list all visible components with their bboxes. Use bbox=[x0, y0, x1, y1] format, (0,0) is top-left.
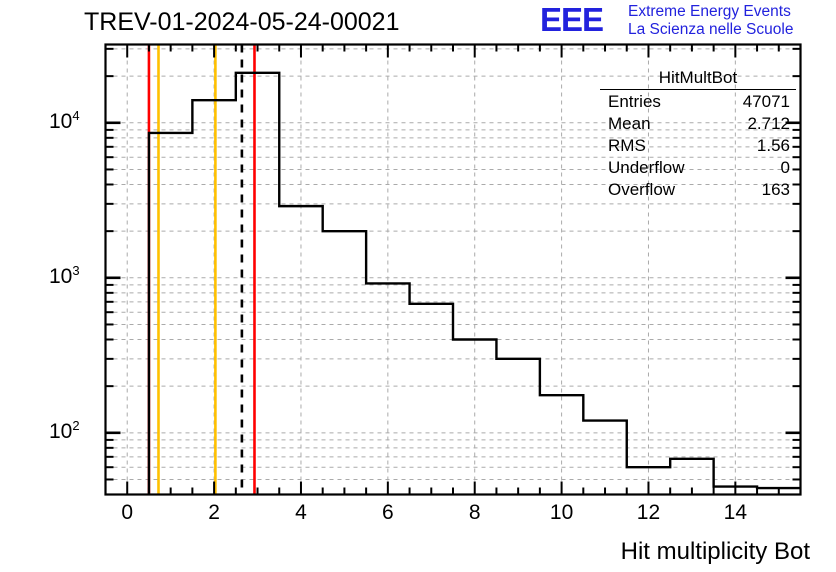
stats-row-label: Entries bbox=[608, 91, 661, 113]
stats-row-value: 47071 bbox=[743, 91, 790, 113]
stats-title: HitMultBot bbox=[600, 68, 796, 90]
stats-row-value: 163 bbox=[762, 179, 790, 201]
stats-row: Entries47071 bbox=[600, 91, 796, 113]
x-tick-label: 10 bbox=[550, 501, 574, 525]
x-tick-label: 0 bbox=[115, 501, 139, 525]
stats-row-label: Underflow bbox=[608, 157, 685, 179]
y-tick-label: 103 bbox=[49, 263, 80, 289]
stats-row: RMS1.56 bbox=[600, 135, 796, 157]
reference-vlines bbox=[149, 45, 255, 495]
x-axis-title: Hit multiplicity Bot bbox=[621, 538, 810, 566]
stats-row-label: Mean bbox=[608, 113, 651, 135]
stats-row: Underflow0 bbox=[600, 157, 796, 179]
x-tick-label: 2 bbox=[202, 501, 226, 525]
stats-row: Mean2.712 bbox=[600, 113, 796, 135]
stats-box: HitMultBot Entries47071Mean2.712RMS1.56U… bbox=[600, 68, 796, 201]
stats-row-value: 2.712 bbox=[747, 113, 790, 135]
stats-row-value: 1.56 bbox=[757, 135, 790, 157]
y-tick-label: 104 bbox=[49, 108, 80, 134]
stats-row-value: 0 bbox=[781, 157, 790, 179]
x-tick-label: 8 bbox=[463, 501, 487, 525]
x-tick-label: 14 bbox=[723, 501, 747, 525]
x-tick-label: 12 bbox=[636, 501, 660, 525]
y-tick-label: 102 bbox=[49, 418, 80, 444]
x-tick-label: 6 bbox=[376, 501, 400, 525]
stats-row: Overflow163 bbox=[600, 179, 796, 201]
stats-row-label: RMS bbox=[608, 135, 646, 157]
stats-row-label: Overflow bbox=[608, 179, 675, 201]
x-tick-label: 4 bbox=[289, 501, 313, 525]
